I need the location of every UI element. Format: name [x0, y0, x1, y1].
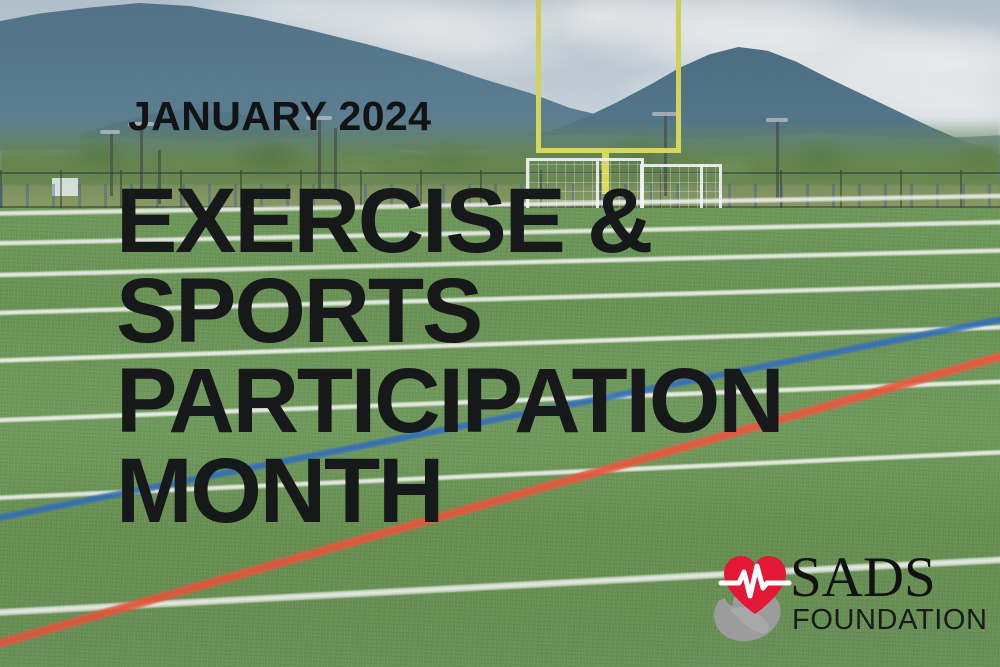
- poster-graphic: JANUARY 2024 EXERCISE & SPORTS PARTICIPA…: [0, 0, 1000, 667]
- headline-line-1: EXERCISE &: [116, 176, 782, 266]
- headline-line-2: SPORTS: [116, 266, 782, 356]
- sads-foundation-logo: SADS FOUNDATION: [712, 548, 960, 644]
- logo-wordmark-group: SADS FOUNDATION: [790, 548, 962, 642]
- logo-wordmark: SADS: [790, 549, 936, 606]
- text-overlay: JANUARY 2024 EXERCISE & SPORTS PARTICIPA…: [0, 0, 1000, 667]
- headline-line-4: MONTH: [116, 446, 782, 536]
- date-eyebrow: JANUARY 2024: [128, 96, 431, 137]
- logo-subwordmark: FOUNDATION: [792, 606, 988, 635]
- headline-line-3: PARTICIPATION: [116, 356, 782, 446]
- page-title: EXERCISE & SPORTS PARTICIPATION MONTH: [116, 176, 782, 536]
- heart-with-heartbeat-in-hand-icon: [712, 548, 798, 642]
